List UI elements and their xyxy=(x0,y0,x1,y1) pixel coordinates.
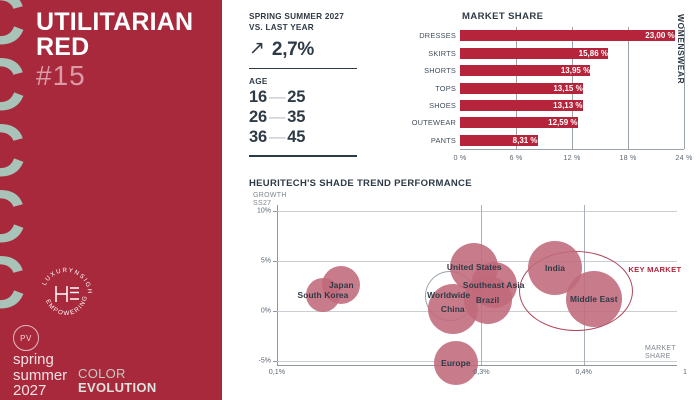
bar-chart-x-tick: 12 % xyxy=(563,153,580,162)
stats-caption-line1: SPRING SUMMER 2027 xyxy=(249,12,357,23)
left-color-panel: COLOR COLOR COLOR COLOR COLOR UTILITARIA… xyxy=(0,0,222,400)
page-title-line1: UTILITARIAN xyxy=(36,10,193,35)
bar-chart-row: PANTS8,31 % xyxy=(398,135,686,146)
divider xyxy=(249,68,357,69)
pv-badge: PV xyxy=(13,325,39,351)
bar-category-label: TOPS xyxy=(398,83,456,94)
scatter-x-tick: 1 xyxy=(683,367,687,376)
bar-chart-row: OUTEWEAR12,59 % xyxy=(398,117,686,128)
bar-chart-row: SHOES13,13 % xyxy=(398,100,686,111)
bar-chart-x-tick: 18 % xyxy=(619,153,636,162)
bar-chart-x-tick: 0 % xyxy=(454,153,467,162)
luxurynsight-logo: LUXURYNSIGHT EMPOWERING DATA xyxy=(34,262,98,326)
scatter-bubble-label: United States xyxy=(447,262,502,272)
bar-value-label: 13,15 % xyxy=(460,83,587,94)
scatter-x-axis-label: MARKET SHARE xyxy=(645,345,676,361)
scatter-y-tick-mark xyxy=(273,311,277,312)
scatter-x-axis-label-line1: MARKET xyxy=(645,345,676,353)
scatter-bubble-label: South Korea xyxy=(298,290,349,300)
bar-value-label: 8,31 % xyxy=(460,135,542,146)
bar-category-label: SKIRTS xyxy=(398,48,456,59)
color-evolution-label: COLOR EVOLUTION xyxy=(78,367,157,395)
decorative-letterform-strip: COLOR COLOR COLOR COLOR COLOR xyxy=(0,0,26,330)
svg-text:LUXURYNSIGHT: LUXURYNSIGHT xyxy=(34,262,93,295)
bar-category-label: OUTEWEAR xyxy=(398,117,456,128)
season-line-3: 2027 xyxy=(13,383,67,399)
bar-category-label: DRESSES xyxy=(398,30,456,41)
scatter-bubble-label: India xyxy=(545,263,565,273)
age-to: 45 xyxy=(287,128,305,146)
color-number: #15 xyxy=(36,62,86,90)
stats-block: SPRING SUMMER 2027 VS. LAST YEAR ↗ 2,7% … xyxy=(249,12,357,157)
shade-trend-scatter-chart: South KoreaJapanWorldwideChinaUnited Sta… xyxy=(249,205,689,380)
bar-category-label: PANTS xyxy=(398,135,456,146)
bar-category-label: SHOES xyxy=(398,100,456,111)
season-line-1: spring xyxy=(13,352,67,368)
stats-caption-line2: VS. LAST YEAR xyxy=(249,23,357,34)
bar-value-label: 12,59 % xyxy=(460,117,582,128)
bar-chart-x-tick: 24 % xyxy=(675,153,692,162)
scatter-bubble-label: Worldwide xyxy=(427,290,470,300)
divider xyxy=(249,155,357,156)
scatter-y-axis xyxy=(277,205,278,365)
age-to: 35 xyxy=(287,108,305,126)
trend-row: ↗ 2,7% xyxy=(249,40,357,59)
bar-chart-row: SHORTS13,95 % xyxy=(398,65,686,76)
page-title-line2: RED xyxy=(36,35,193,60)
deco-letter-glyph: COLOR xyxy=(0,250,26,316)
scatter-y-tick-mark xyxy=(273,211,277,212)
bar-value-label: 15,86 % xyxy=(460,48,612,59)
bar-value-label: 13,13 % xyxy=(460,100,587,111)
age-group-row: 26—35 xyxy=(249,108,357,126)
scatter-bubble-label: Europe xyxy=(441,358,470,368)
scatter-bubble-label: Southeast Asia xyxy=(463,280,525,290)
key-market-annotation: KEY MARKET xyxy=(628,265,681,274)
bar-category-label: SHORTS xyxy=(398,65,456,76)
bar-chart-axis-line xyxy=(460,149,684,150)
age-dash: — xyxy=(267,88,287,106)
scatter-bubble-label: China xyxy=(441,304,465,314)
scatter-y-tick: 5% xyxy=(247,258,271,265)
scatter-x-tick: 0,3% xyxy=(473,367,489,376)
color-word: COLOR xyxy=(78,367,157,381)
scatter-x-tick: 0,4% xyxy=(575,367,591,376)
scatter-y-tick: 10% xyxy=(247,208,271,215)
evolution-word: EVOLUTION xyxy=(78,381,157,395)
age-dash: — xyxy=(267,108,287,126)
age-from: 16 xyxy=(249,88,267,106)
scatter-y-tick: 0% xyxy=(247,308,271,315)
scatter-gridline-horizontal xyxy=(277,211,677,212)
market-share-bar-chart: DRESSES23,00 %SKIRTS15,86 %SHORTS13,95 %… xyxy=(398,27,686,159)
scatter-bubble-label: Japan xyxy=(329,280,354,290)
scatter-y-tick-mark xyxy=(273,261,277,262)
scatter-x-tick: 0,1% xyxy=(269,367,285,376)
age-to: 25 xyxy=(287,88,305,106)
scatter-y-tick: -5% xyxy=(247,358,271,365)
bar-chart-row: TOPS13,15 % xyxy=(398,83,686,94)
season-label: spring summer 2027 xyxy=(13,352,67,399)
season-line-2: summer xyxy=(13,368,67,384)
bar-chart-row: SKIRTS15,86 % xyxy=(398,48,686,59)
age-dash: — xyxy=(267,128,287,146)
scatter-bubble-label: Middle East xyxy=(570,294,618,304)
age-group-row: 36—45 xyxy=(249,128,357,146)
bar-value-label: 23,00 % xyxy=(460,30,679,41)
trend-value: 2,7% xyxy=(272,40,314,59)
age-from: 26 xyxy=(249,108,267,126)
age-group-row: 16—25 xyxy=(249,88,357,106)
market-share-title: MARKET SHARE xyxy=(462,11,543,22)
scatter-title: HEURITECH'S SHADE TREND PERFORMANCE xyxy=(249,178,472,189)
page-title: UTILITARIAN RED xyxy=(36,10,193,60)
scatter-bubble-label: Brazil xyxy=(476,295,499,305)
age-from: 36 xyxy=(249,128,267,146)
bar-chart-x-tick: 6 % xyxy=(510,153,523,162)
bar-chart-row: DRESSES23,00 % xyxy=(398,30,686,41)
scatter-x-axis-label-line2: SHARE xyxy=(645,353,676,361)
scatter-plot-area: South KoreaJapanWorldwideChinaUnited Sta… xyxy=(277,211,677,361)
arrow-up-right-icon: ↗ xyxy=(249,39,265,58)
age-label: AGE xyxy=(249,77,357,86)
scatter-y-axis-label-line1: GROWTH xyxy=(253,192,287,200)
slide-root: COLOR COLOR COLOR COLOR COLOR UTILITARIA… xyxy=(0,0,700,400)
bar-value-label: 13,95 % xyxy=(460,65,594,76)
scatter-y-tick-mark xyxy=(273,361,277,362)
